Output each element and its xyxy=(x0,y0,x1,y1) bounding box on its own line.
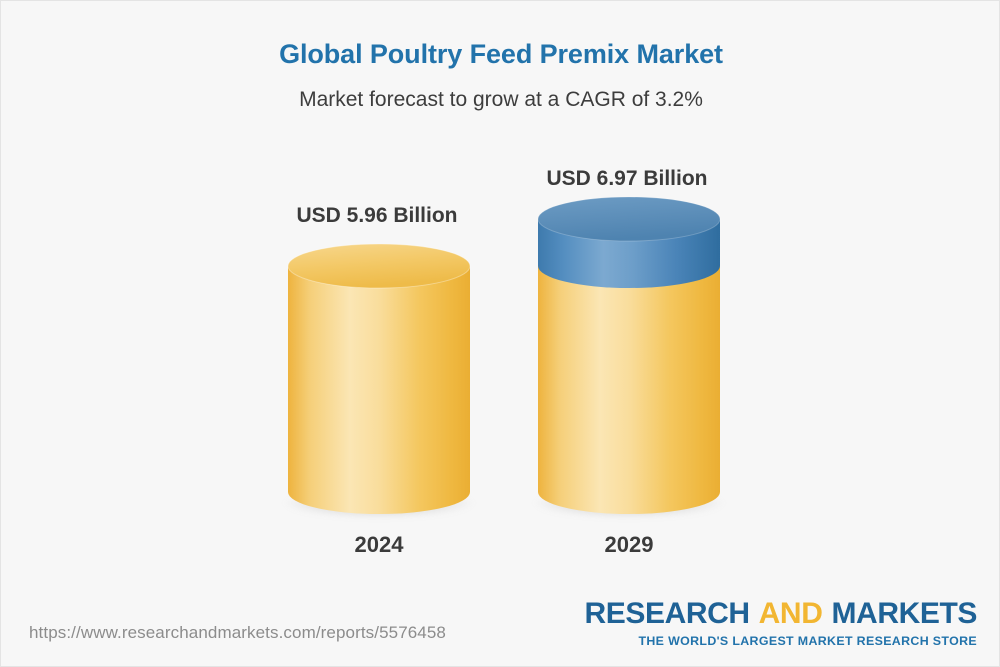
logo-tagline: THE WORLD'S LARGEST MARKET RESEARCH STOR… xyxy=(585,634,977,648)
logo-word-research: RESEARCH xyxy=(585,597,750,630)
infographic-card: Global Poultry Feed Premix Market Market… xyxy=(0,0,1000,667)
bar-chart: USD 5.96 Billion xyxy=(1,1,1000,667)
research-and-markets-logo[interactable]: RESEARCHANDMARKETS THE WORLD'S LARGEST M… xyxy=(585,599,977,648)
bar-value-label-2024: USD 5.96 Billion xyxy=(247,204,507,228)
bar-value-label-2029: USD 6.97 Billion xyxy=(497,167,757,191)
source-url[interactable]: https://www.researchandmarkets.com/repor… xyxy=(29,623,446,643)
logo-wordmark: RESEARCHANDMARKETS xyxy=(585,599,977,629)
bar-cylinder-2024 xyxy=(284,244,474,519)
logo-word-markets: MARKETS xyxy=(831,597,977,630)
bar-category-label-2024: 2024 xyxy=(249,532,509,558)
logo-word-and: AND xyxy=(759,597,823,630)
bar-cylinder-2029 xyxy=(534,197,724,519)
bar-category-label-2029: 2029 xyxy=(499,532,759,558)
